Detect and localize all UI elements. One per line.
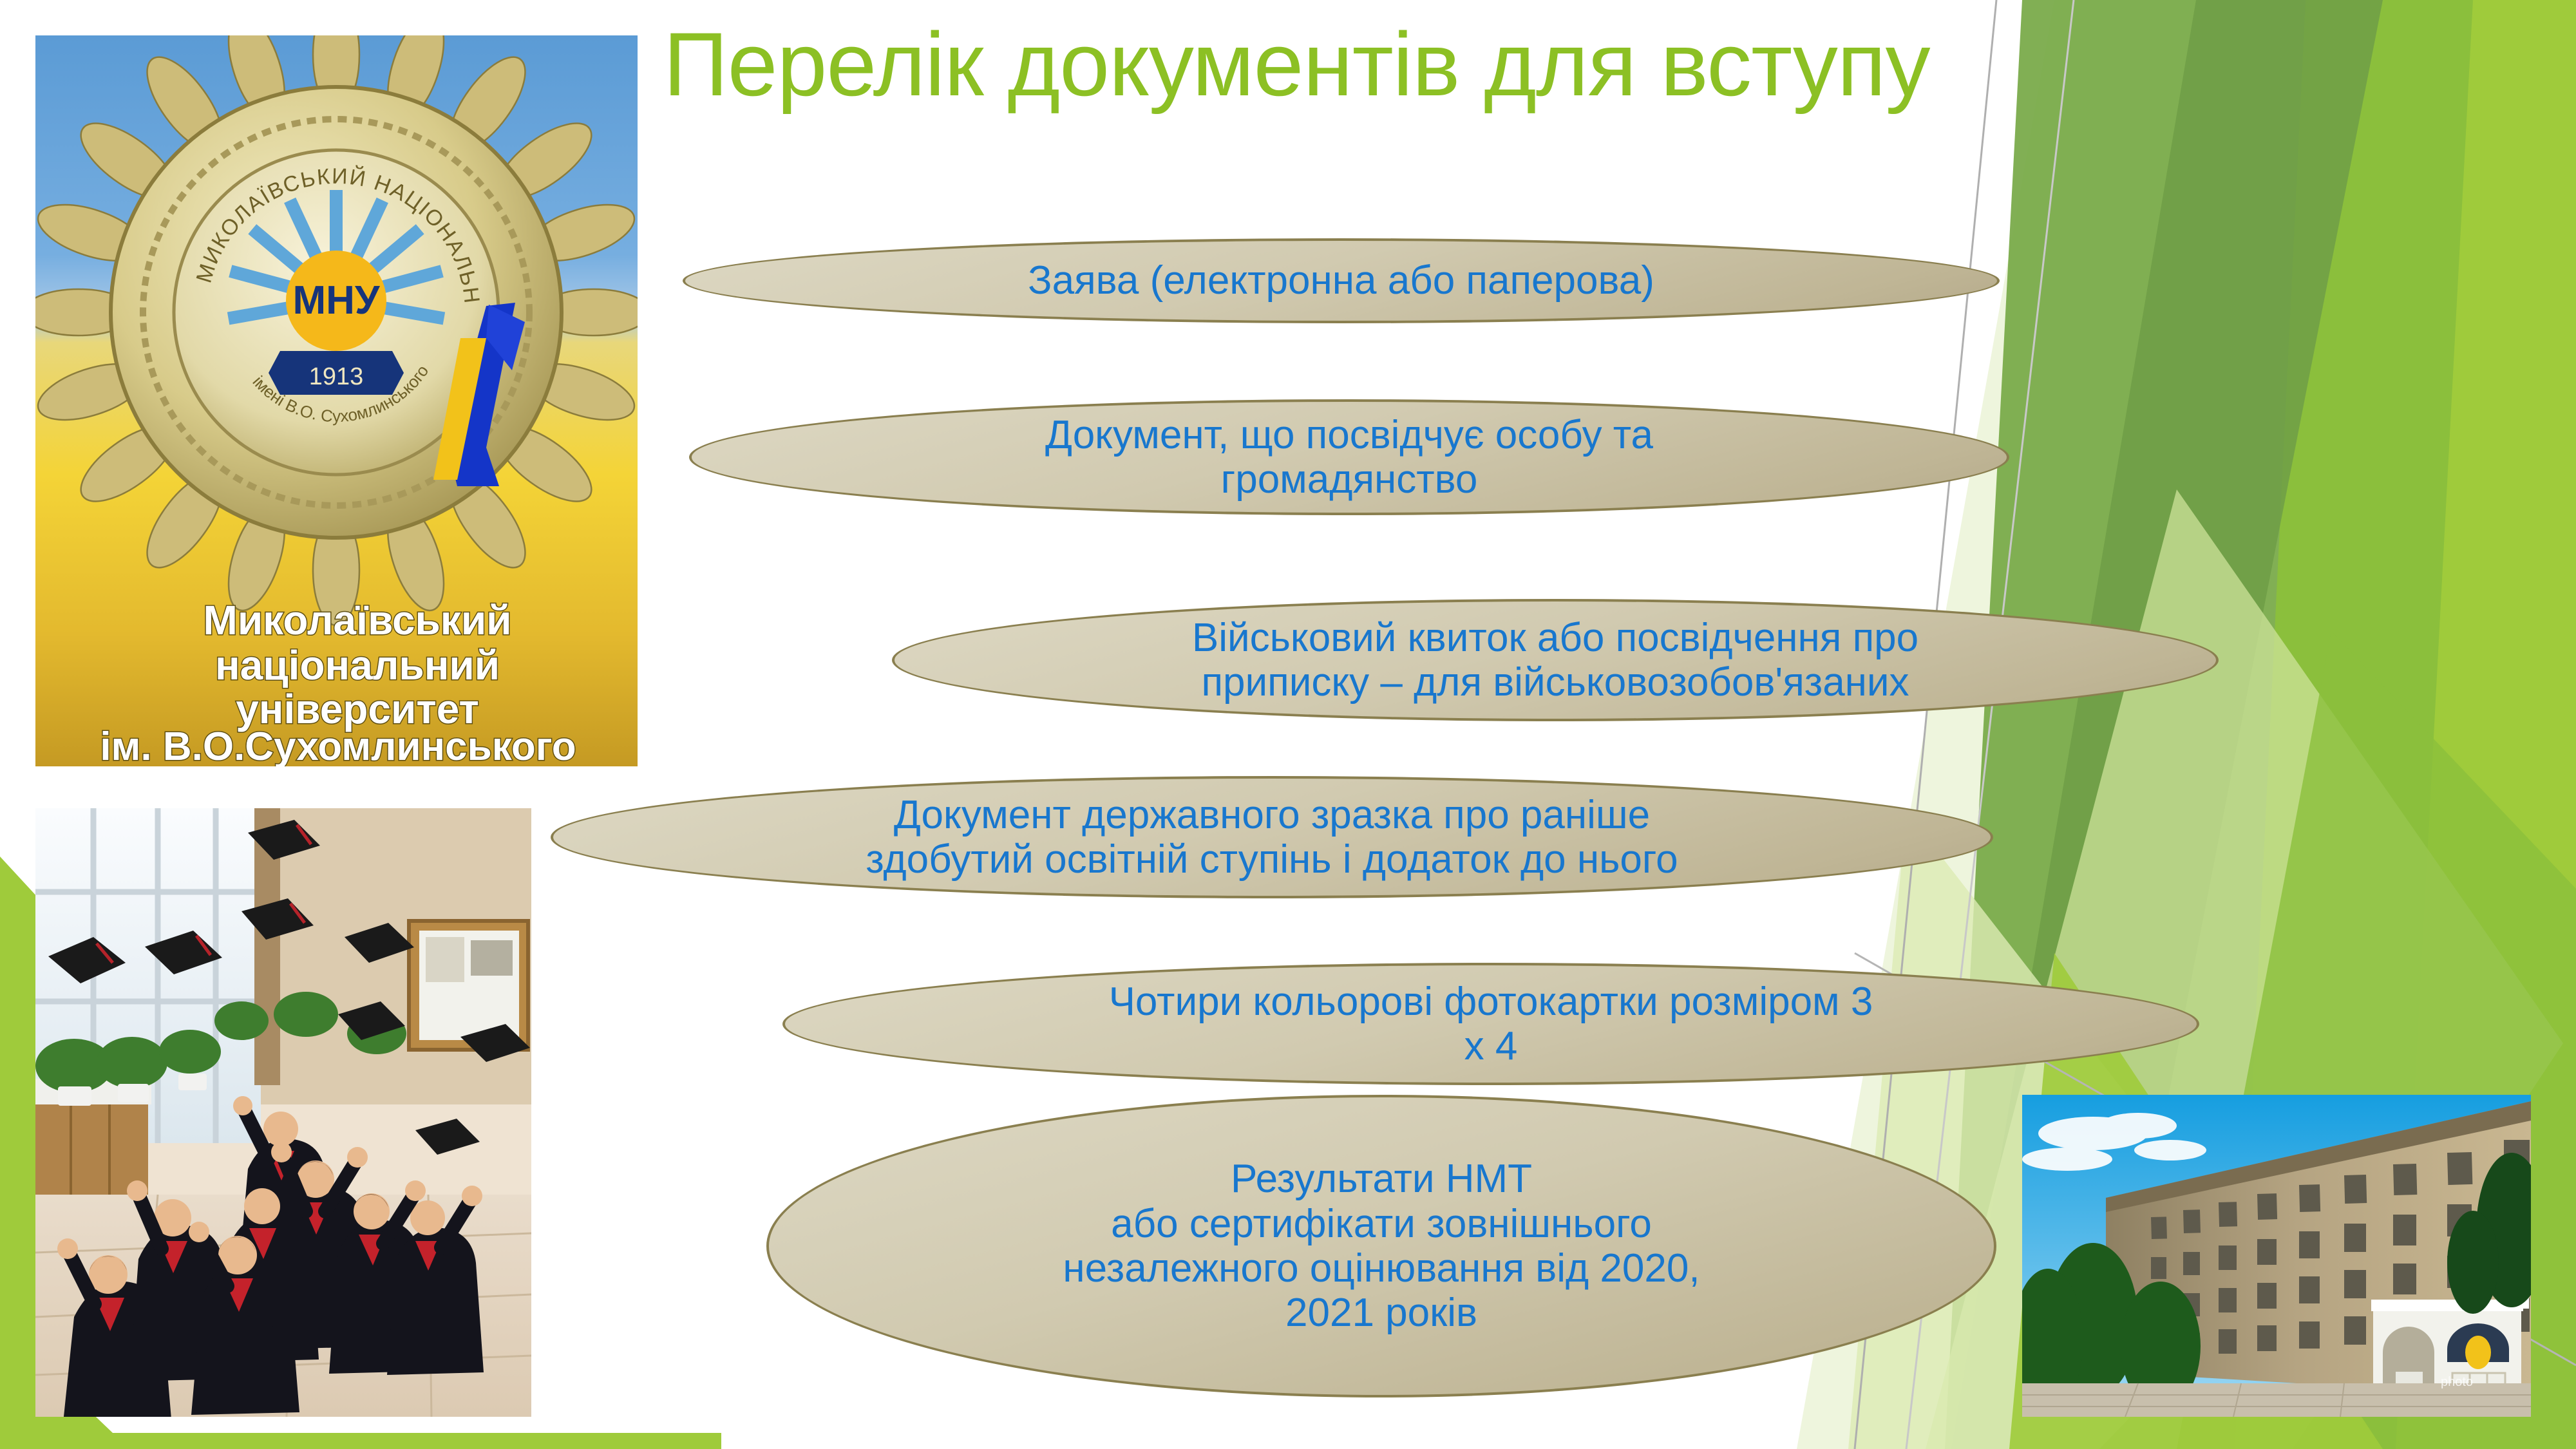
emblem-center-text: МНУ <box>293 278 381 323</box>
emblem-year-text: 1913 <box>309 363 364 390</box>
document-ellipse-4-text: Документ державного зразка про раніше зд… <box>779 793 1764 882</box>
graduates-photo <box>35 808 531 1417</box>
svg-text:ім. В.О.Сухомлинського: ім. В.О.Сухомлинського <box>100 724 576 766</box>
document-ellipse-4[interactable]: Документ державного зразка про раніше зд… <box>551 776 1993 898</box>
document-ellipse-2[interactable]: Документ, що посвідчує особу та громадян… <box>689 399 2009 515</box>
document-ellipse-1[interactable]: Заява (електронна або паперова) <box>683 238 2000 323</box>
page-title: Перелік документів для вступу <box>663 19 2164 109</box>
slide-canvas: Перелік документів для вступу <box>0 0 2576 1449</box>
document-ellipse-6-text: Результати НМТ або сертифікати зовнішньо… <box>989 1157 1773 1336</box>
university-building-photo: photo <box>2022 1095 2531 1417</box>
document-ellipse-1-text: Заява (електронна або паперова) <box>949 258 1733 303</box>
svg-text:Миколаївський: Миколаївський <box>204 597 512 643</box>
university-emblem-image: МИКОЛАЇВСЬКИЙ НАЦІОНАЛЬНИЙ УНІВЕРСИТЕТ і… <box>35 35 638 766</box>
document-ellipse-5[interactable]: Чотири кольорові фотокартки розміром 3 х… <box>782 963 2199 1085</box>
photo-watermark: photo <box>2441 1375 2473 1389</box>
document-ellipse-3[interactable]: Військовий квиток або посвідчення про пр… <box>892 599 2219 721</box>
document-ellipse-5-text: Чотири кольорові фотокартки розміром 3 х… <box>1024 980 1958 1069</box>
document-ellipse-6[interactable]: Результати НМТ або сертифікати зовнішньо… <box>766 1095 1996 1397</box>
document-ellipse-3-text: Військовий квиток або посвідчення про пр… <box>1113 616 1998 705</box>
document-ellipse-2-text: Документ, що посвідчує особу та громадян… <box>967 413 1732 502</box>
svg-text:національний: національний <box>215 642 500 688</box>
